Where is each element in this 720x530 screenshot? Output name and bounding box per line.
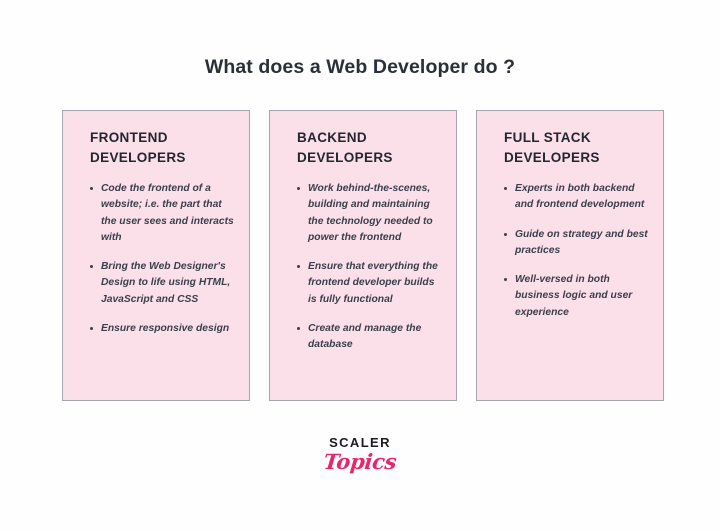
bullet-text: Ensure responsive design	[101, 323, 229, 334]
card-bullet-list: Work behind-the-scenes, building and mai…	[297, 181, 442, 353]
bullet-dot-icon	[297, 265, 300, 268]
logo-primary-text: SCALER	[0, 436, 720, 449]
developer-role-cards: FRONTEND DEVELOPERS Code the frontend of…	[62, 110, 664, 401]
scaler-topics-logo: SCALER Topics	[0, 436, 720, 473]
card-backend-developers: BACKEND DEVELOPERS Work behind-the-scene…	[269, 110, 457, 401]
bullet-dot-icon	[504, 187, 507, 190]
bullet-dot-icon	[297, 187, 300, 190]
bullet-dot-icon	[504, 278, 507, 281]
logo-secondary-text: Topics	[0, 450, 720, 473]
bullet-text: Guide on strategy and best practices	[515, 229, 648, 256]
bullet-dot-icon	[90, 187, 93, 190]
list-item: Ensure responsive design	[90, 321, 235, 337]
card-bullet-list: Experts in both backend and frontend dev…	[504, 181, 649, 321]
card-heading: BACKEND DEVELOPERS	[297, 128, 442, 167]
list-item: Guide on strategy and best practices	[504, 227, 649, 260]
bullet-dot-icon	[90, 265, 93, 268]
page-title: What does a Web Developer do ?	[0, 56, 720, 79]
bullet-text: Ensure that everything the frontend deve…	[308, 261, 438, 305]
bullet-text: Well-versed in both business logic and u…	[515, 274, 632, 318]
bullet-text: Bring the Web Designer's Design to life …	[101, 261, 230, 305]
card-heading: FULL STACK DEVELOPERS	[504, 128, 649, 167]
list-item: Well-versed in both business logic and u…	[504, 272, 649, 321]
card-frontend-developers: FRONTEND DEVELOPERS Code the frontend of…	[62, 110, 250, 401]
list-item: Code the frontend of a website; i.e. the…	[90, 181, 235, 246]
bullet-text: Code the frontend of a website; i.e. the…	[101, 183, 234, 243]
card-full-stack-developers: FULL STACK DEVELOPERS Experts in both ba…	[476, 110, 664, 401]
card-bullet-list: Code the frontend of a website; i.e. the…	[90, 181, 235, 337]
list-item: Bring the Web Designer's Design to life …	[90, 259, 235, 308]
infographic-canvas: What does a Web Developer do ? FRONTEND …	[0, 0, 720, 530]
bullet-text: Work behind-the-scenes, building and mai…	[308, 183, 433, 243]
bullet-dot-icon	[297, 327, 300, 330]
bullet-text: Experts in both backend and frontend dev…	[515, 183, 644, 210]
list-item: Work behind-the-scenes, building and mai…	[297, 181, 442, 246]
bullet-text: Create and manage the database	[308, 323, 421, 350]
bullet-dot-icon	[504, 233, 507, 236]
card-heading: FRONTEND DEVELOPERS	[90, 128, 235, 167]
list-item: Ensure that everything the frontend deve…	[297, 259, 442, 308]
list-item: Experts in both backend and frontend dev…	[504, 181, 649, 214]
list-item: Create and manage the database	[297, 321, 442, 354]
bullet-dot-icon	[90, 327, 93, 330]
